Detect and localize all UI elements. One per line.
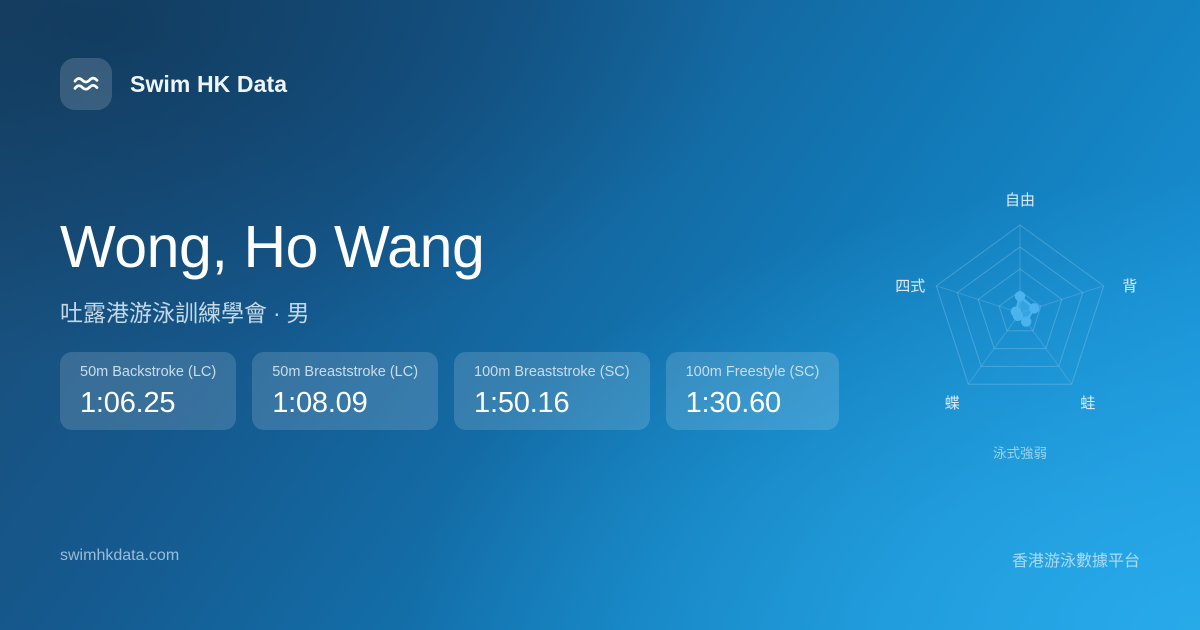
radar-axis-label: 自由 [1005,192,1035,209]
brand-header: Swim HK Data [60,58,287,110]
athlete-gender: 男 [287,300,310,326]
stat-card-label: 100m Freestyle (SC) [686,365,820,380]
stat-card-value: 1:06.25 [80,389,216,418]
stat-card-label: 50m Backstroke (LC) [80,365,216,380]
radar-axis-label: 蛙 [1080,395,1095,412]
stat-card-value: 1:30.60 [686,389,820,418]
radar-axis-label: 四式 [895,278,925,295]
athlete-club: 吐露港游泳訓練學會 [60,300,267,326]
stat-card-label: 50m Breaststroke (LC) [272,365,418,380]
stat-card-value: 1:08.09 [272,389,418,418]
radar-chart: 自由背蛙蝶四式 泳式強弱 [880,170,1160,470]
og-card: Swim HK Data Wong, Ho Wang 吐露港游泳訓練學會·男 5… [0,0,1200,630]
radar-axis-label: 蝶 [945,395,960,412]
stat-card: 50m Breaststroke (LC) 1:08.09 [252,352,438,430]
stat-card-value: 1:50.16 [474,389,630,418]
wave-icon [60,58,112,110]
stat-card: 100m Freestyle (SC) 1:30.60 [666,352,840,430]
meta-separator: · [267,300,287,326]
stat-card: 100m Breaststroke (SC) 1:50.16 [454,352,650,430]
athlete-meta: 吐露港游泳訓練學會·男 [60,294,484,328]
footer-tagline: 香港游泳數據平台 [1012,547,1140,571]
footer-site: swimhkdata.com [60,547,179,565]
radar-chart-caption: 泳式強弱 [880,442,1160,462]
brand-name: Swim HK Data [130,71,287,98]
page-title: Wong, Ho Wang [60,218,484,277]
stat-card: 50m Backstroke (LC) 1:06.25 [60,352,236,430]
athlete-hero: Wong, Ho Wang 吐露港游泳訓練學會·男 [60,218,484,328]
stat-card-label: 100m Breaststroke (SC) [474,365,630,380]
radar-axis-label: 背 [1122,278,1137,295]
stat-card-list: 50m Backstroke (LC) 1:06.25 50m Breastst… [60,352,839,430]
